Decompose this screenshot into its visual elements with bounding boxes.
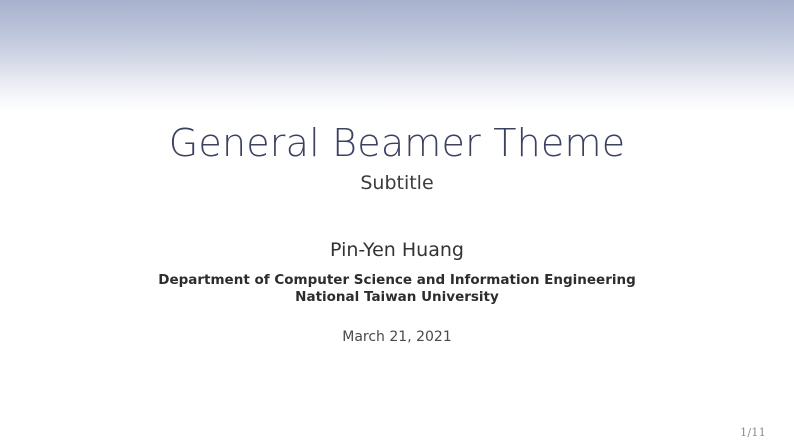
- institute-department-line: Department of Computer Science and Infor…: [0, 272, 794, 289]
- institute-university-line: National Taiwan University: [0, 289, 794, 306]
- page-number-indicator: 1/11: [740, 426, 766, 439]
- presentation-date: March 21, 2021: [0, 329, 794, 346]
- slide-subtitle: Subtitle: [0, 172, 794, 195]
- author-name: Pin-Yen Huang: [0, 239, 794, 262]
- institute-block: Department of Computer Science and Infor…: [0, 272, 794, 307]
- slide-content: General Beamer Theme Subtitle Pin-Yen Hu…: [0, 0, 794, 447]
- slide-title: General Beamer Theme: [0, 122, 794, 165]
- presentation-slide: General Beamer Theme Subtitle Pin-Yen Hu…: [0, 0, 794, 447]
